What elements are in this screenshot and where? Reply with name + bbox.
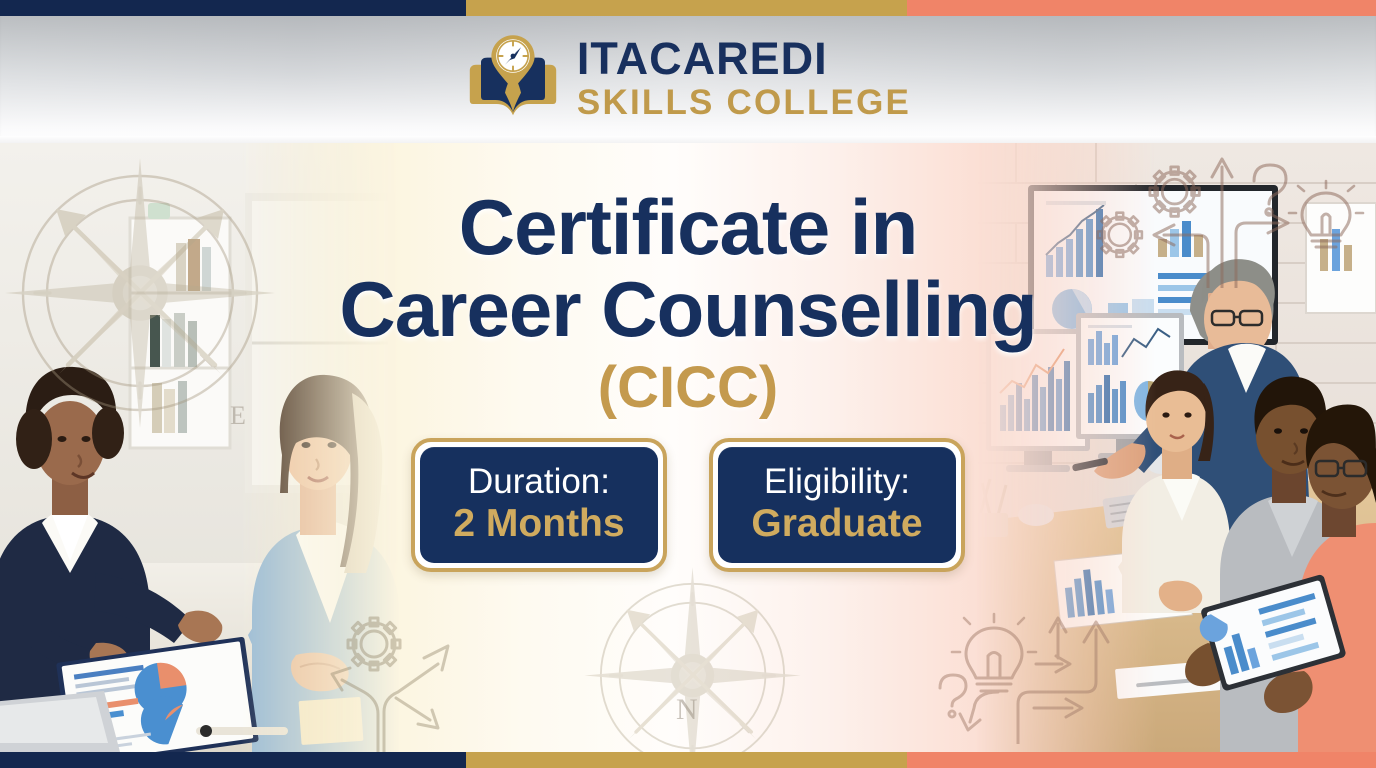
stripe-segment-navy bbox=[0, 752, 466, 768]
headline-line-1: Certificate in bbox=[0, 188, 1376, 266]
main-canvas: E N W S bbox=[0, 143, 1376, 752]
info-boxes-row: Duration: 2 Months Eligibility: Graduate bbox=[0, 438, 1376, 572]
info-box-duration-label: Duration: bbox=[468, 464, 610, 501]
headline-line-2: Career Counselling bbox=[0, 270, 1376, 348]
info-box-eligibility-value: Graduate bbox=[751, 503, 922, 546]
info-box-duration-panel: Duration: 2 Months bbox=[420, 447, 658, 563]
info-box-eligibility-label: Eligibility: bbox=[764, 464, 910, 501]
info-box-eligibility: Eligibility: Graduate bbox=[709, 438, 965, 572]
compass-open-book-icon bbox=[465, 32, 561, 124]
brand-name-secondary: SKILLS COLLEGE bbox=[577, 85, 911, 120]
stripe-segment-coral bbox=[907, 752, 1376, 768]
brand-name-primary: ITACAREDI bbox=[577, 36, 911, 81]
compass-letter-north: N bbox=[676, 693, 698, 727]
arrow-icon bbox=[396, 698, 438, 728]
top-stripe bbox=[0, 0, 1376, 16]
header-band: ITACAREDI SKILLS COLLEGE bbox=[0, 16, 1376, 143]
poster-canvas: ITACAREDI SKILLS COLLEGE bbox=[0, 0, 1376, 768]
stripe-segment-navy bbox=[0, 0, 466, 16]
question-mark-icon bbox=[940, 675, 966, 717]
bottom-stripe bbox=[0, 752, 1376, 768]
info-box-duration: Duration: 2 Months bbox=[411, 438, 667, 572]
headline-block: Certificate in Career Counselling (CICC) bbox=[0, 188, 1376, 421]
stripe-segment-gold bbox=[466, 752, 906, 768]
brand-logo: ITACAREDI SKILLS COLLEGE bbox=[465, 32, 911, 124]
stripe-segment-gold bbox=[466, 0, 906, 16]
info-box-eligibility-panel: Eligibility: Graduate bbox=[718, 447, 956, 563]
stripe-segment-coral bbox=[907, 0, 1376, 16]
headline-acronym: (CICC) bbox=[0, 354, 1376, 421]
brand-logo-text: ITACAREDI SKILLS COLLEGE bbox=[577, 36, 911, 120]
info-box-duration-value: 2 Months bbox=[453, 503, 624, 546]
